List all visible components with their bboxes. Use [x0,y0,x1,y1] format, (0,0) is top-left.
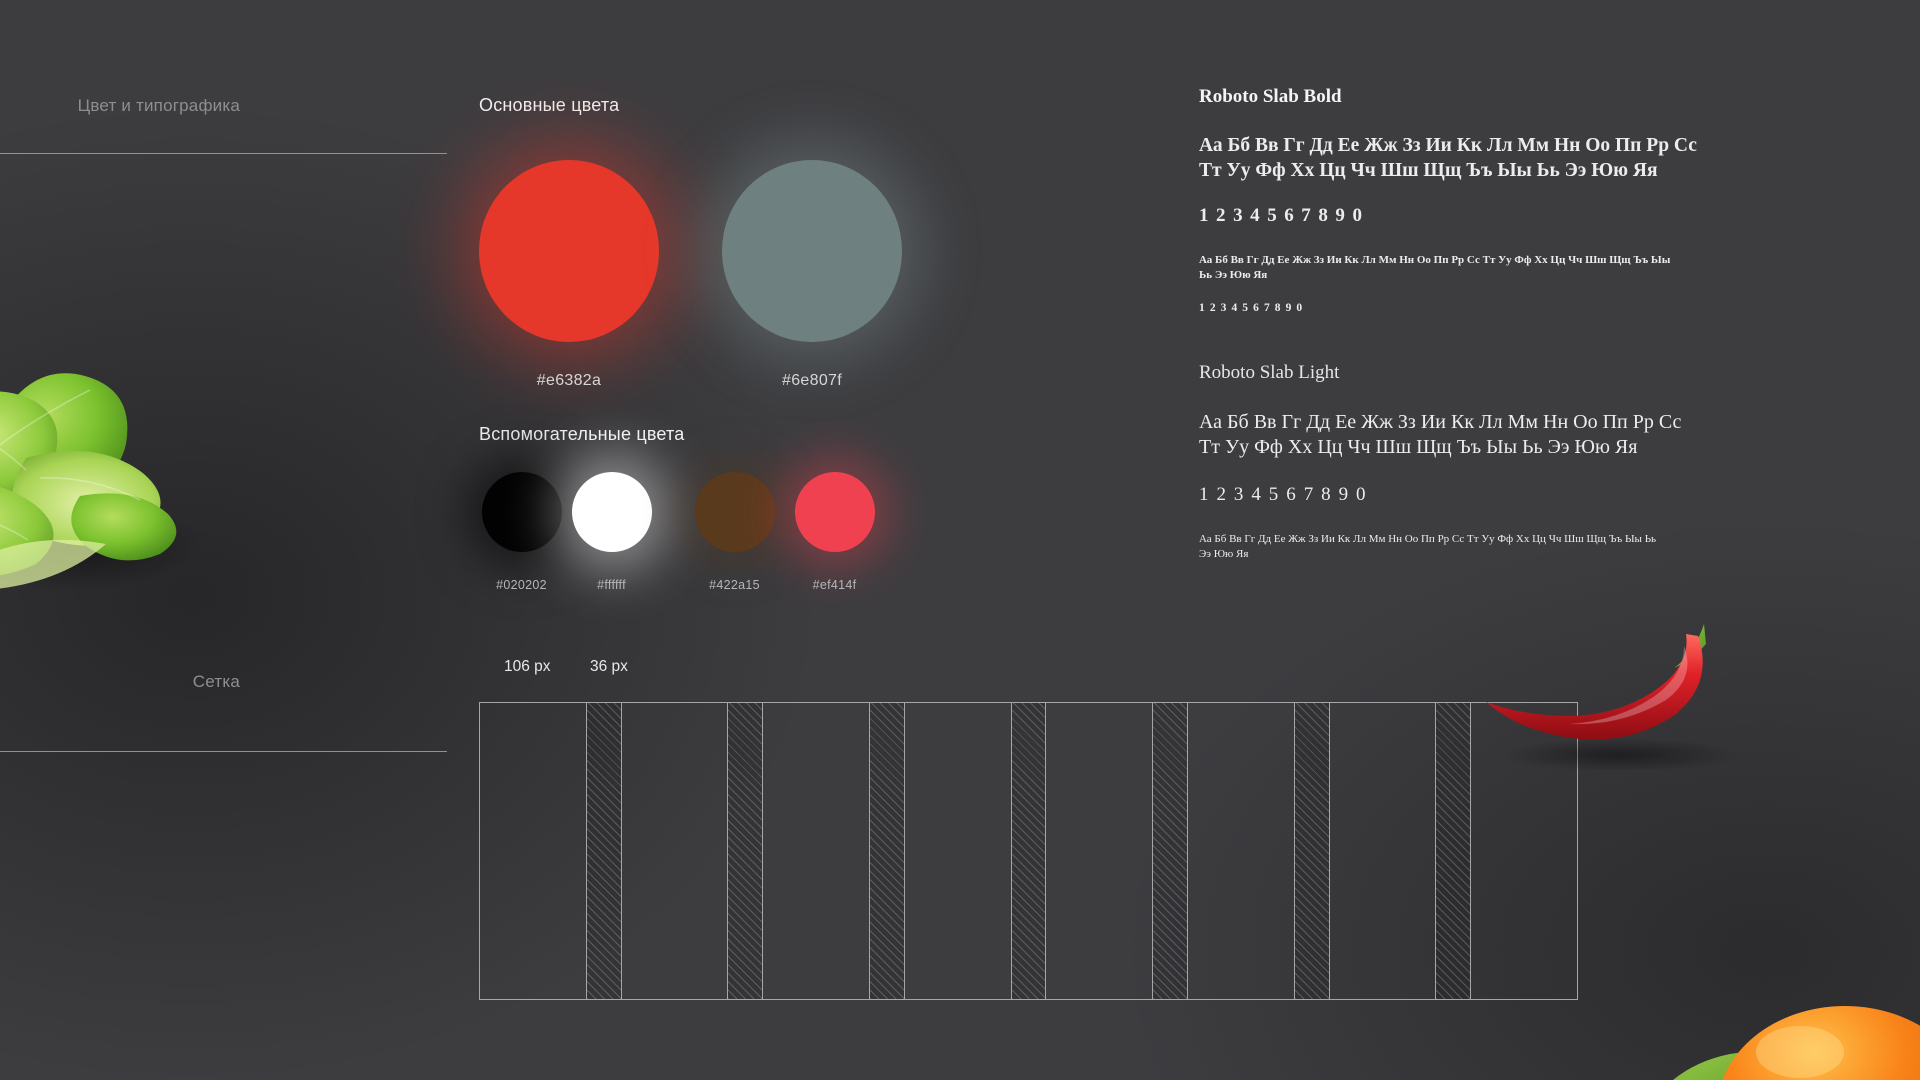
grid-gutter [727,703,763,999]
grid-column [1471,703,1577,999]
swatch-hex-secondary-pink: #ef414f [772,578,897,592]
typography-pane: Roboto Slab Bold Аа Бб Вв Гг Дд Ее Жж Зз… [1199,86,1699,561]
swatch-primary-sage[interactable]: #6e807f [722,160,902,390]
swatch-hex-secondary-white: #ffffff [549,578,674,592]
swatch-secondary-pink[interactable]: #ef414f [772,472,897,592]
grid-gutter [1011,703,1047,999]
swatch-dot-primary-sage [722,160,902,342]
grid-gutter [869,703,905,999]
swatch-dot-secondary-white [572,472,652,552]
swatch-secondary-white[interactable]: #ffffff [549,472,674,592]
secondary-colors-heading: Вспомогательные цвета [479,424,685,445]
swatch-dot-primary-red [479,160,659,342]
typeface-title-bold: Roboto Slab Bold [1199,86,1699,108]
typeface-light-alphabet-small: Аа Бб Вв Гг Дд Ее Жж Зз Ии Кк Лл Мм Нн О… [1199,532,1659,561]
primary-colors-heading: Основные цвета [479,95,619,116]
style-guide-page: Цвет и типографика Сетка Основные цвета … [0,0,1920,1080]
grid-diagram [479,702,1578,1000]
swatch-hex-primary-red: #e6382a [479,372,659,390]
swatch-primary-red[interactable]: #e6382a [479,160,659,390]
typeface-light-alphabet-large: Аа Бб Вв Гг Дд Ее Жж Зз Ии Кк Лл Мм Нн О… [1199,410,1699,460]
grid-gutter [1152,703,1188,999]
grid-gutter-width-label: 36 px [590,658,628,676]
rail-divider-top [0,153,447,154]
rail-label-grid: Сетка [0,672,240,692]
typeface-bold-alphabet-large: Аа Бб Вв Гг Дд Ее Жж Зз Ии Кк Лл Мм Нн О… [1199,134,1699,183]
grid-column [480,703,586,999]
orange-fruit-image [1660,990,1920,1080]
swatch-dot-secondary-pink [795,472,875,552]
grid-column [905,703,1011,999]
rail-label-color-typography: Цвет и типографика [0,96,240,116]
typeface-bold-numerals-large: 1 2 3 4 5 6 7 8 9 0 [1199,205,1699,227]
swatch-dot-secondary-brown [695,472,775,552]
swatch-hex-primary-sage: #6e807f [722,372,902,390]
grid-column [763,703,869,999]
grid-gutter [1435,703,1471,999]
rail-divider-bottom [0,751,447,752]
grid-column [1188,703,1294,999]
typeface-light-numerals-large: 1 2 3 4 5 6 7 8 9 0 [1199,484,1699,506]
lettuce-image [0,318,230,598]
typeface-bold-numerals-small: 1 2 3 4 5 6 7 8 9 0 [1199,302,1699,314]
typeface-bold-alphabet-small: Аа Бб Вв Гг Дд Ее Жж Зз Ии Кк Лл Мм Нн О… [1199,253,1677,282]
grid-gutter [586,703,622,999]
typeface-title-light: Roboto Slab Light [1199,362,1699,384]
grid-gutter [1294,703,1330,999]
grid-column [1330,703,1436,999]
grid-column-width-label: 106 px [504,658,551,676]
grid-column [622,703,728,999]
grid-column [1046,703,1152,999]
